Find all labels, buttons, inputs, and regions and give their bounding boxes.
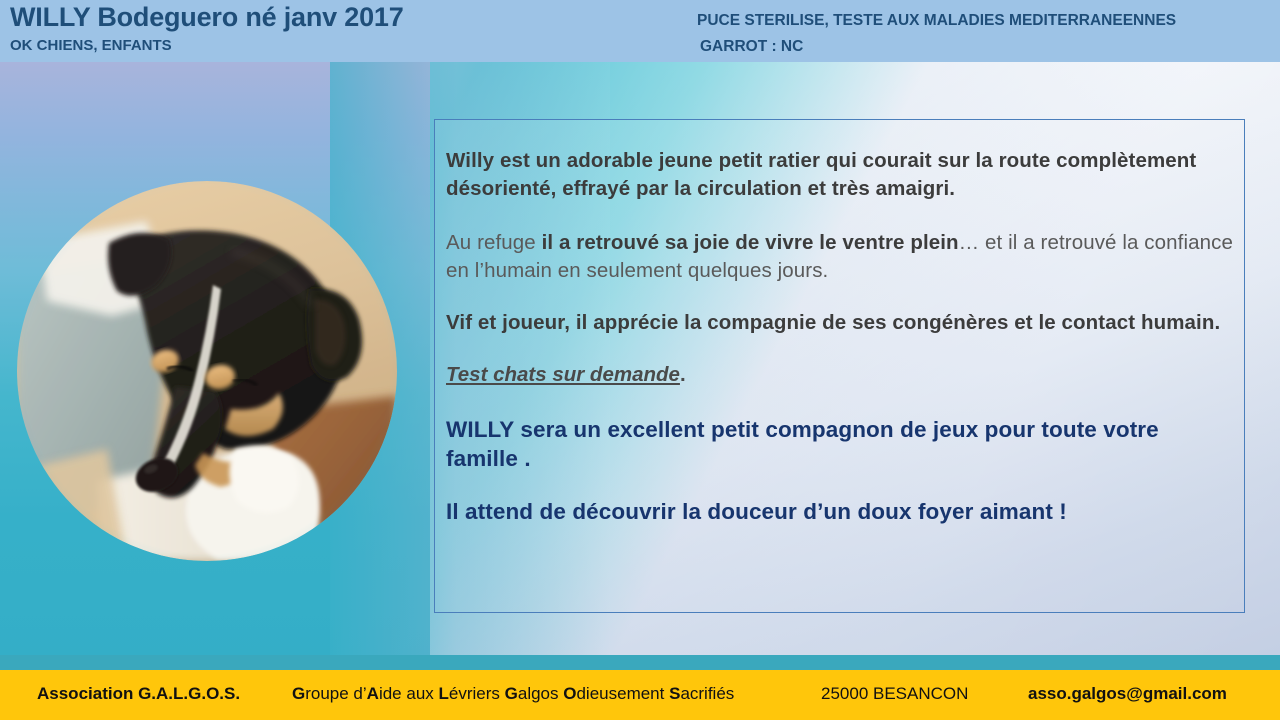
expansion-rest-4: dieusement — [576, 684, 669, 703]
association-email[interactable]: asso.galgos@gmail.com — [1028, 684, 1227, 704]
dog-photo-illustration — [17, 181, 397, 561]
cat-test-underlined: Test chats sur demande — [446, 363, 680, 386]
shelter-text-bold: il a retrouvé sa joie de vivre le ventre… — [542, 231, 959, 254]
expansion-initial-1: A — [367, 684, 379, 703]
footer-bar: Association G.A.L.G.O.S. Groupe d’Aide a… — [0, 670, 1280, 720]
expansion-initial-3: G — [505, 684, 518, 703]
dog-photo — [17, 181, 397, 561]
paragraph-temperament: Vif et joueur, il apprécie la compagnie … — [446, 309, 1236, 337]
page-title: WILLY Bodeguero né janv 2017 — [10, 2, 404, 33]
dog-photo-circle — [17, 181, 397, 561]
expansion-rest-3: algos — [518, 684, 563, 703]
medical-status-line-1: PUCE STERILISE, TESTE AUX MALADIES MEDIT… — [697, 12, 1176, 30]
footer-accent-stripe — [0, 655, 1280, 670]
description-box: Willy est un adorable jeune petit ratier… — [434, 119, 1245, 613]
description-content: Willy est un adorable jeune petit ratier… — [446, 147, 1236, 526]
paragraph-shelter: Au refuge il a retrouvé sa joie de vivre… — [446, 229, 1236, 285]
expansion-rest-5: acrifiés — [680, 684, 734, 703]
expansion-initial-4: O — [563, 684, 576, 703]
association-city: 25000 BESANCON — [821, 684, 968, 704]
header-band: WILLY Bodeguero né janv 2017 OK CHIENS, … — [0, 0, 1280, 62]
poster-root: WILLY Bodeguero né janv 2017 OK CHIENS, … — [0, 0, 1280, 720]
expansion-initial-5: S — [669, 684, 680, 703]
association-expansion: Groupe d’Aide aux Lévriers Galgos Odieus… — [292, 684, 734, 704]
medical-status-line-2: GARROT : NC — [700, 38, 803, 56]
expansion-rest-0: roupe d’ — [305, 684, 366, 703]
compatibility-subtitle: OK CHIENS, ENFANTS — [10, 37, 172, 54]
cat-test-period: . — [680, 363, 686, 386]
paragraph-intro: Willy est un adorable jeune petit ratier… — [446, 147, 1236, 203]
expansion-initial-0: G — [292, 684, 305, 703]
paragraph-call-to-action: Il attend de découvrir la douceur d’un d… — [446, 497, 1236, 526]
shelter-text-start: Au refuge — [446, 231, 542, 254]
expansion-initial-2: L — [439, 684, 449, 703]
expansion-rest-2: évriers — [449, 684, 505, 703]
paragraph-promise: WILLY sera un excellent petit compagnon … — [446, 415, 1236, 473]
association-name: Association G.A.L.G.O.S. — [37, 684, 240, 704]
expansion-rest-1: ide aux — [379, 684, 439, 703]
paragraph-cat-test: Test chats sur demande. — [446, 361, 1236, 389]
